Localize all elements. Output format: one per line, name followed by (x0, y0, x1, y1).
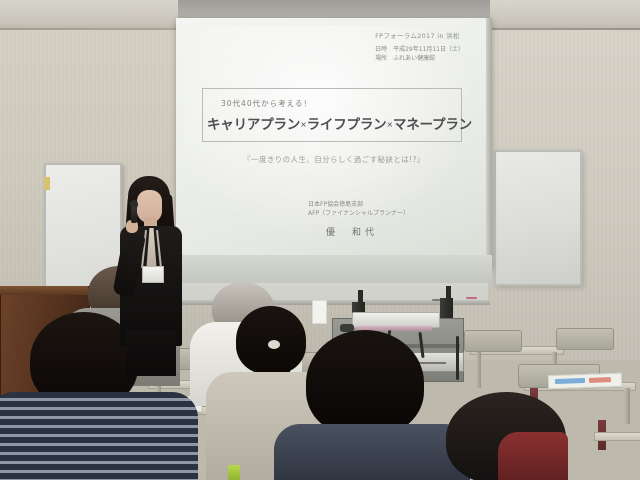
chair-back (556, 328, 614, 350)
slide-main-title: キャリアプラン×ライフプラン×マネープラン (207, 113, 472, 133)
screen-right-edge (486, 18, 492, 268)
slide-organization: 日本FP協会徳島支部 (308, 200, 409, 209)
hair-tie (268, 340, 280, 349)
handout-paper (548, 373, 622, 390)
desk-top (594, 432, 640, 441)
slide-subtitle: 『一度きりの人生、自分らしく過ごす秘訣とは!?』 (186, 154, 482, 165)
slide-event-title: FPフォーラム2017 in 浜松 (375, 30, 464, 40)
desk-leg (624, 388, 630, 424)
desk-leg (476, 352, 481, 388)
projected-slide: FPフォーラム2017 in 浜松 日時 平成29年11月11日（土） 場所 ふ… (186, 22, 482, 258)
chair-back (464, 330, 522, 352)
posted-paper-slip (312, 300, 327, 324)
slide-credit-block: 日本FP協会徳島支部 AFP（ファイナンシャルプランナー） 優 和代 (308, 200, 409, 241)
whiteboard-tape (44, 177, 50, 190)
slide-header: FPフォーラム2017 in 浜松 日時 平成29年11月11日（土） 場所 ふ… (375, 30, 464, 63)
slide-speaker-name: 優 和代 (326, 227, 409, 241)
av-cable (456, 336, 459, 380)
seminar-photo: FPフォーラム2017 in 浜松 日時 平成29年11月11日（土） 場所 ふ… (0, 0, 640, 480)
attendee-body-striped-sweater (0, 392, 198, 480)
lectern-top (0, 286, 88, 295)
slide-title-part-2: ライフプラン (307, 117, 387, 133)
attendee-red-garment (498, 432, 568, 480)
slide-title-part-1: キャリアプラン (207, 117, 300, 133)
slide-eyebrow: 30代40代から考える！ (221, 98, 312, 109)
name-badge (142, 266, 164, 283)
attendee-body-navy (274, 424, 470, 480)
drink-cup (228, 465, 240, 480)
slide-title-part-3: マネープラン (393, 117, 472, 133)
presenter-skirt (126, 330, 176, 376)
microphone-body (131, 207, 137, 223)
attendee-head-bob-cut (306, 330, 424, 436)
screen-lower-area (176, 255, 492, 283)
slide-event-date: 日時 平成29年11月11日（土） (375, 46, 464, 55)
slide-qualification: AFP（ファイナンシャルプランナー） (308, 209, 409, 218)
slide-event-place: 場所 ふれあい健康館 (375, 55, 464, 64)
marker-pen (466, 297, 477, 299)
whiteboard-right (494, 150, 582, 286)
slide-title-box: 30代40代から考える！ キャリアプラン×ライフプラン×マネープラン (202, 88, 462, 142)
